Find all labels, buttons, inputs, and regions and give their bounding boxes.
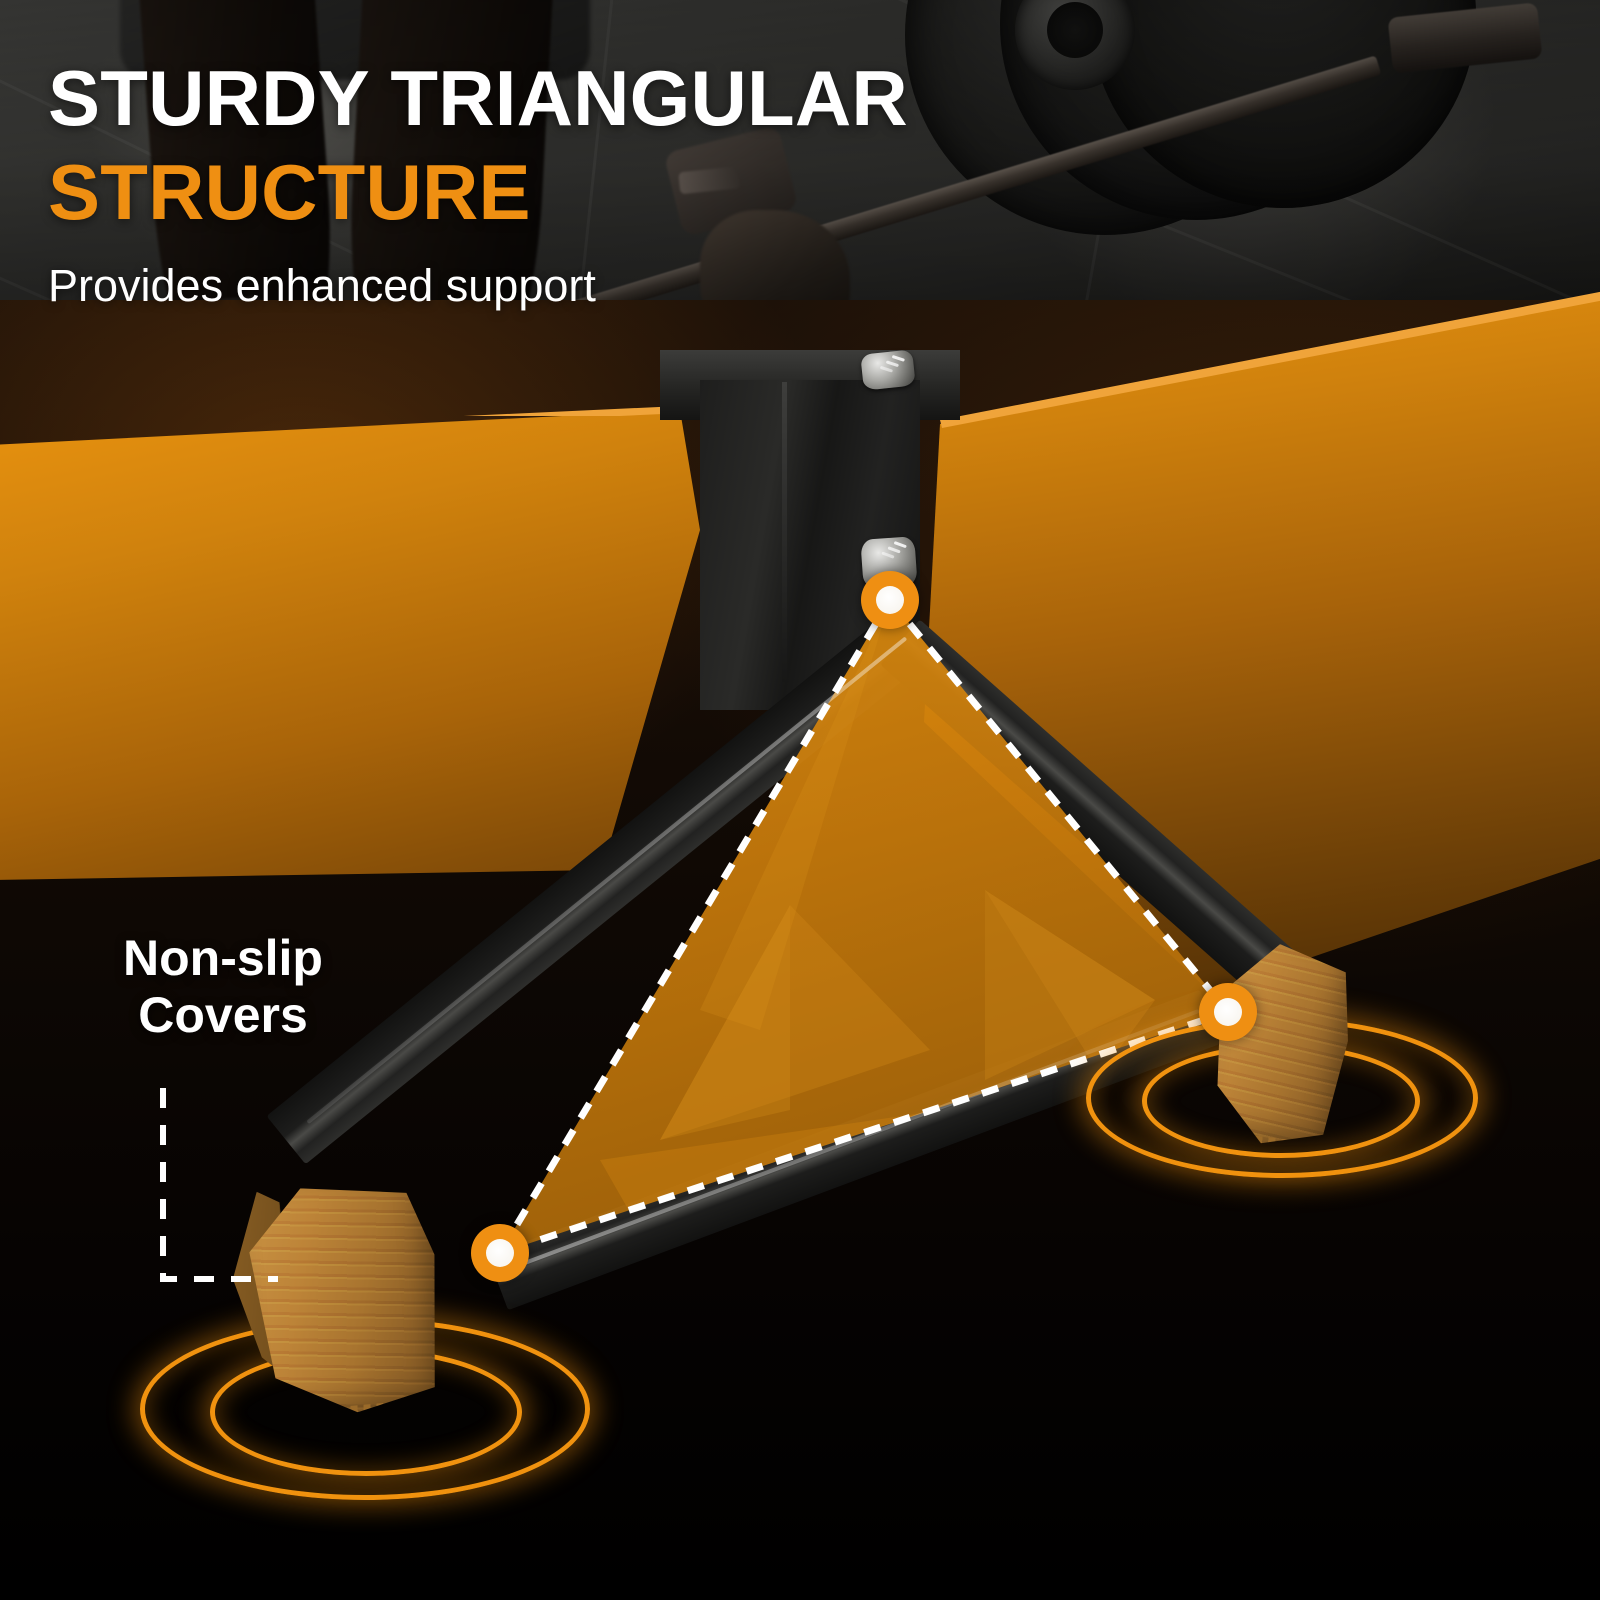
product-feature-graphic: STURDY TRIANGULAR STRUCTURE Provides enh… xyxy=(0,0,1600,1600)
headline-line-2: STRUCTURE xyxy=(48,152,531,233)
post-weld-seam xyxy=(782,382,787,682)
headline-subtitle: Provides enhanced support xyxy=(48,260,596,312)
vertex-marker-left xyxy=(471,1224,529,1282)
hex-bolt-upper xyxy=(860,349,915,390)
vertex-marker-top xyxy=(861,571,919,629)
vertex-marker-right xyxy=(1199,983,1257,1041)
callout-non-slip-covers: Non-slip Covers xyxy=(92,930,354,1044)
callout-line-2: Covers xyxy=(138,987,308,1043)
headline-line-1: STURDY TRIANGULAR xyxy=(48,58,908,139)
callout-line-1: Non-slip xyxy=(123,930,323,986)
